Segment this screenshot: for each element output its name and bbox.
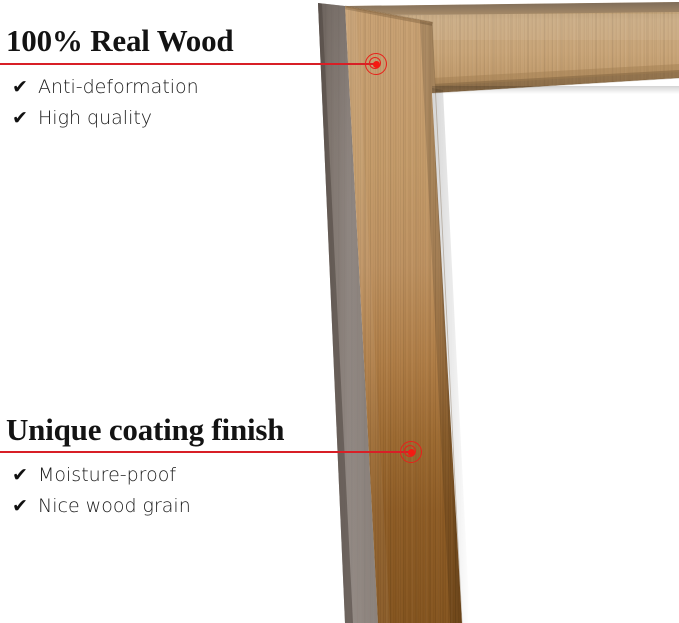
callout-real-wood-heading: 100% Real Wood [6,25,233,56]
list-item: ✔ Nice wood grain [12,495,191,526]
callout-coating-finish-bullets: ✔ Moisture-proof ✔ Nice wood grain [12,464,191,526]
check-icon: ✔ [12,76,38,98]
check-icon: ✔ [12,107,38,129]
bullet-label: Anti-deformation [38,76,199,98]
callout-marker-coating-finish [400,441,422,463]
list-item: ✔ High quality [12,107,199,138]
product-infographic: 100% Real Wood ✔ Anti-deformation ✔ High… [0,0,679,623]
check-icon: ✔ [12,464,38,486]
callout-real-wood-bullets: ✔ Anti-deformation ✔ High quality [12,76,199,138]
check-icon: ✔ [12,495,38,517]
list-item: ✔ Anti-deformation [12,76,199,107]
callout-coating-finish-heading: Unique coating finish [6,414,284,445]
bullet-label: High quality [38,107,152,129]
callout-real-wood-pointer-line [0,63,379,65]
frame-inner-opening [432,78,679,623]
callout-marker-real-wood [365,53,387,75]
bullet-label: Moisture-proof [38,464,176,486]
callout-coating-finish-pointer-line [0,451,412,453]
list-item: ✔ Moisture-proof [12,464,191,495]
bullet-label: Nice wood grain [38,495,191,517]
